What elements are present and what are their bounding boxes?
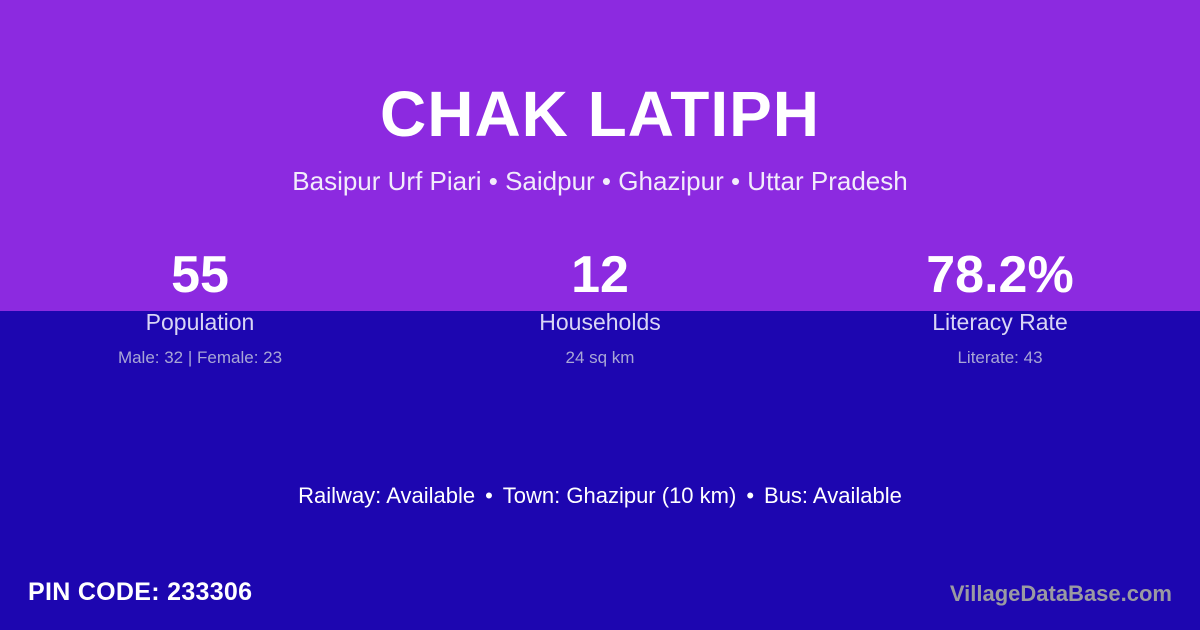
card-header: CHAK LATIPH Basipur Urf Piari • Saidpur … <box>0 0 1200 194</box>
transport-bus: Bus: Available <box>764 483 902 508</box>
village-info-card: CHAK LATIPH Basipur Urf Piari • Saidpur … <box>0 0 1200 630</box>
transport-town: Town: Ghazipur (10 km) <box>503 483 737 508</box>
stat-value-population: 55 <box>0 246 400 304</box>
stat-label-households: Households <box>400 311 800 334</box>
stat-detail-population: Male: 32 | Female: 23 <box>0 349 400 366</box>
transport-separator-1: • <box>475 485 503 507</box>
stat-value-literacy-rate: 78.2% <box>800 246 1200 304</box>
page-title: CHAK LATIPH <box>0 82 1200 146</box>
stat-households: 12 Households 24 sq km <box>400 246 800 366</box>
stat-label-literacy-rate: Literacy Rate <box>800 311 1200 334</box>
transport-info-row: Railway: Available•Town: Ghazipur (10 km… <box>0 485 1200 507</box>
transport-railway: Railway: Available <box>298 483 475 508</box>
transport-separator-2: • <box>736 485 764 507</box>
card-footer: PIN CODE: 233306 VillageDataBase.com <box>0 564 1200 630</box>
pin-code-label: PIN CODE: 233306 <box>28 580 252 605</box>
stats-row: 55 Population Male: 32 | Female: 23 12 H… <box>0 246 1200 366</box>
stat-detail-literacy-rate: Literate: 43 <box>800 349 1200 366</box>
stat-detail-households: 24 sq km <box>400 349 800 366</box>
stat-literacy-rate: 78.2% Literacy Rate Literate: 43 <box>800 246 1200 366</box>
breadcrumb: Basipur Urf Piari • Saidpur • Ghazipur •… <box>0 168 1200 194</box>
site-brand-label: VillageDataBase.com <box>950 583 1172 605</box>
stat-population: 55 Population Male: 32 | Female: 23 <box>0 246 400 366</box>
stat-label-population: Population <box>0 311 400 334</box>
stat-value-households: 12 <box>400 246 800 304</box>
